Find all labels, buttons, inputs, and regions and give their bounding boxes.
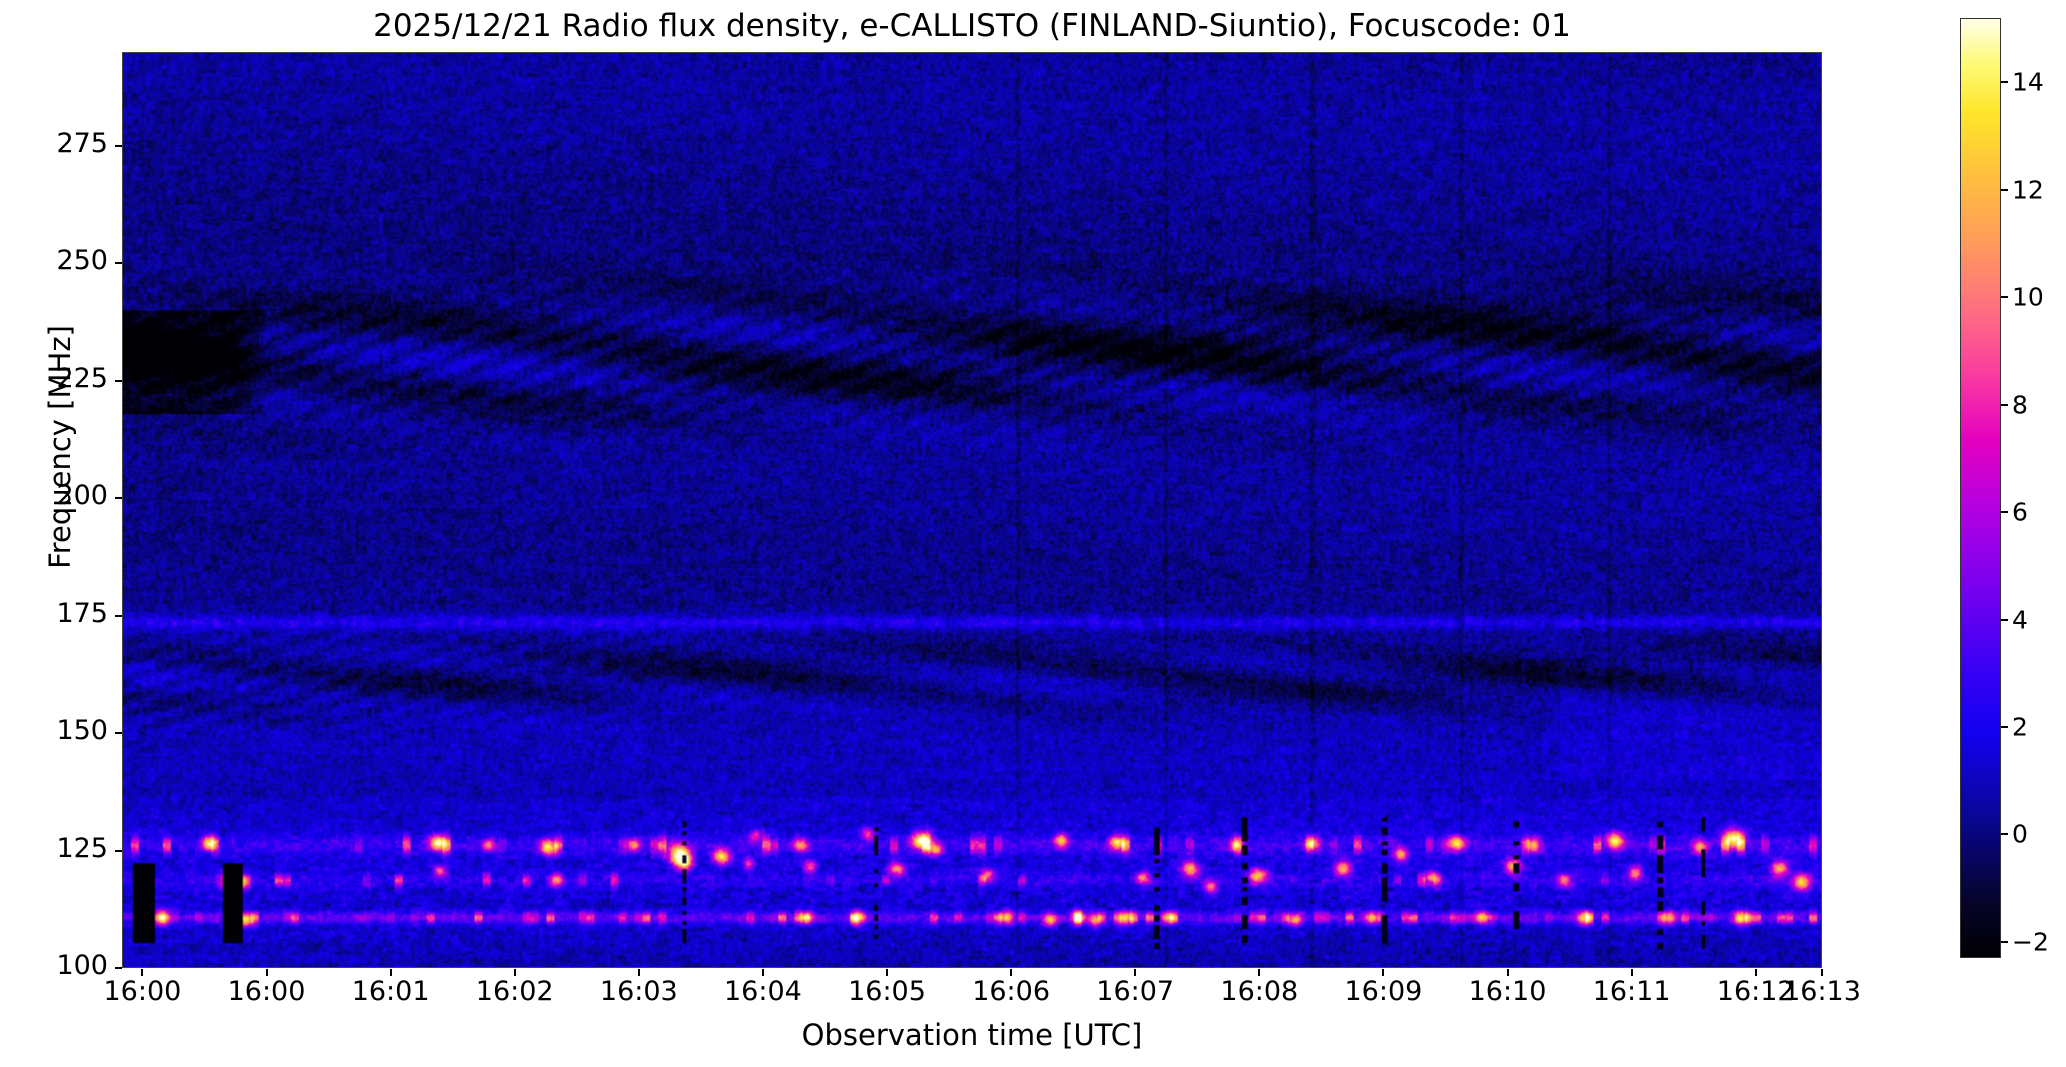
- x-tick-label: 16:07: [1096, 976, 1174, 1007]
- x-tick-label: 16:00: [103, 976, 181, 1007]
- colorbar-tick-mark: [2001, 296, 2008, 298]
- y-tick-label: 275: [56, 128, 108, 159]
- x-tick-label: 16:00: [228, 976, 306, 1007]
- colorbar-tick-label: 8: [2012, 390, 2028, 419]
- y-tick-mark: [115, 380, 122, 382]
- x-tick-label: 16:06: [972, 976, 1050, 1007]
- x-tick-mark: [1382, 969, 1384, 976]
- y-tick-mark: [115, 262, 122, 264]
- colorbar-tick-label: 6: [2012, 498, 2028, 527]
- x-axis-label: Observation time [UTC]: [122, 1018, 1822, 1052]
- x-tick-mark: [1010, 969, 1012, 976]
- y-tick-mark: [115, 850, 122, 852]
- colorbar-tick-label: 10: [2012, 283, 2044, 312]
- x-tick-mark: [390, 969, 392, 976]
- spectrogram-plot-area: [122, 52, 1822, 968]
- x-tick-mark: [266, 969, 268, 976]
- x-tick-mark: [1631, 969, 1633, 976]
- colorbar-tick-mark: [2001, 189, 2008, 191]
- figure-canvas: 2025/12/21 Radio flux density, e-CALLIST…: [0, 0, 2066, 1067]
- x-tick-mark: [1755, 969, 1757, 976]
- colorbar-tick-mark: [2001, 81, 2008, 83]
- x-tick-label: 16:13: [1783, 976, 1861, 1007]
- x-tick-mark: [762, 969, 764, 976]
- x-tick-mark: [1507, 969, 1509, 976]
- x-tick-label: 16:05: [848, 976, 926, 1007]
- x-tick-label: 16:09: [1344, 976, 1422, 1007]
- x-tick-label: 16:03: [600, 976, 678, 1007]
- x-tick-mark: [886, 969, 888, 976]
- x-tick-label: 16:10: [1469, 976, 1547, 1007]
- y-tick-label: 150: [56, 715, 108, 746]
- x-tick-mark: [1134, 969, 1136, 976]
- x-tick-label: 16:01: [352, 976, 430, 1007]
- y-tick-label: 100: [56, 950, 108, 981]
- x-tick-mark: [1258, 969, 1260, 976]
- colorbar-tick-label: −2: [2012, 927, 2049, 956]
- x-tick-mark: [1821, 969, 1823, 976]
- colorbar-tick-mark: [2001, 833, 2008, 835]
- x-tick-mark: [638, 969, 640, 976]
- spectrogram-image: [123, 53, 1821, 967]
- y-tick-mark: [115, 145, 122, 147]
- y-tick-mark: [115, 967, 122, 969]
- colorbar-tick-mark: [2001, 941, 2008, 943]
- y-tick-mark: [115, 732, 122, 734]
- x-tick-label: 16:02: [476, 976, 554, 1007]
- colorbar-tick-label: 2: [2012, 713, 2028, 742]
- colorbar-tick-mark: [2001, 404, 2008, 406]
- y-axis-label: Frequency [MHz]: [43, 237, 77, 657]
- x-tick-mark: [514, 969, 516, 976]
- y-tick-mark: [115, 497, 122, 499]
- colorbar-tick-label: 14: [2012, 68, 2044, 97]
- colorbar-tick-label: 4: [2012, 605, 2028, 634]
- colorbar-tick-mark: [2001, 726, 2008, 728]
- y-tick-mark: [115, 615, 122, 617]
- x-tick-label: 16:04: [724, 976, 802, 1007]
- x-tick-mark: [141, 969, 143, 976]
- y-tick-label: 125: [56, 833, 108, 864]
- x-tick-label: 16:11: [1593, 976, 1671, 1007]
- colorbar: [1960, 18, 2001, 958]
- colorbar-tick-label: 12: [2012, 175, 2044, 204]
- colorbar-tick-mark: [2001, 619, 2008, 621]
- colorbar-tick-mark: [2001, 511, 2008, 513]
- x-tick-label: 16:08: [1220, 976, 1298, 1007]
- chart-title: 2025/12/21 Radio flux density, e-CALLIST…: [122, 4, 1822, 48]
- colorbar-tick-label: 0: [2012, 820, 2028, 849]
